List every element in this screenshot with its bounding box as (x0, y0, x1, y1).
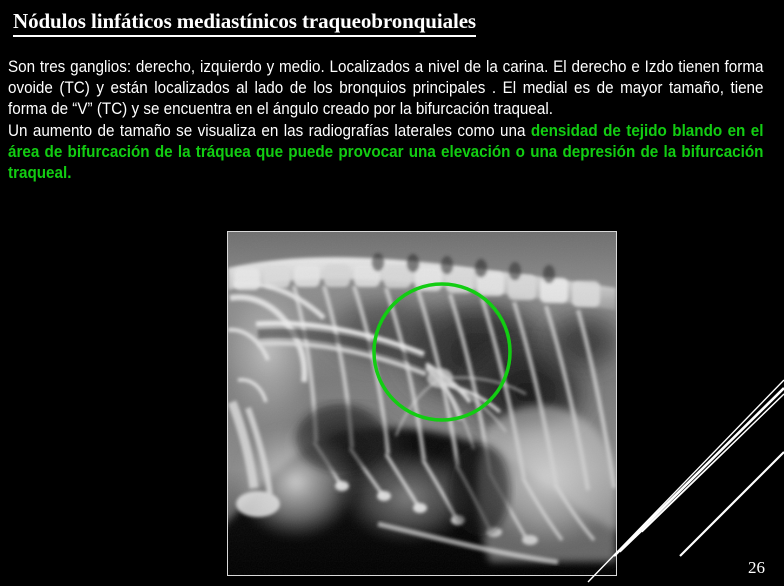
radiograph-figure (227, 231, 617, 576)
paragraph-one: Son tres ganglios: derecho, izquierdo y … (8, 57, 763, 121)
page-number: 26 (748, 558, 765, 578)
slide-root: Nódulos linfáticos mediastínicos traqueo… (0, 0, 784, 586)
paragraph-two-plain: Un aumento de tamaño se visualiza en las… (8, 122, 531, 140)
page-title: Nódulos linfáticos mediastínicos traqueo… (13, 8, 476, 37)
body-text-block: Son tres ganglios: derecho, izquierdo y … (8, 57, 763, 184)
paragraph-two: Un aumento de tamaño se visualiza en las… (8, 121, 763, 185)
radiograph-canvas (228, 232, 616, 575)
